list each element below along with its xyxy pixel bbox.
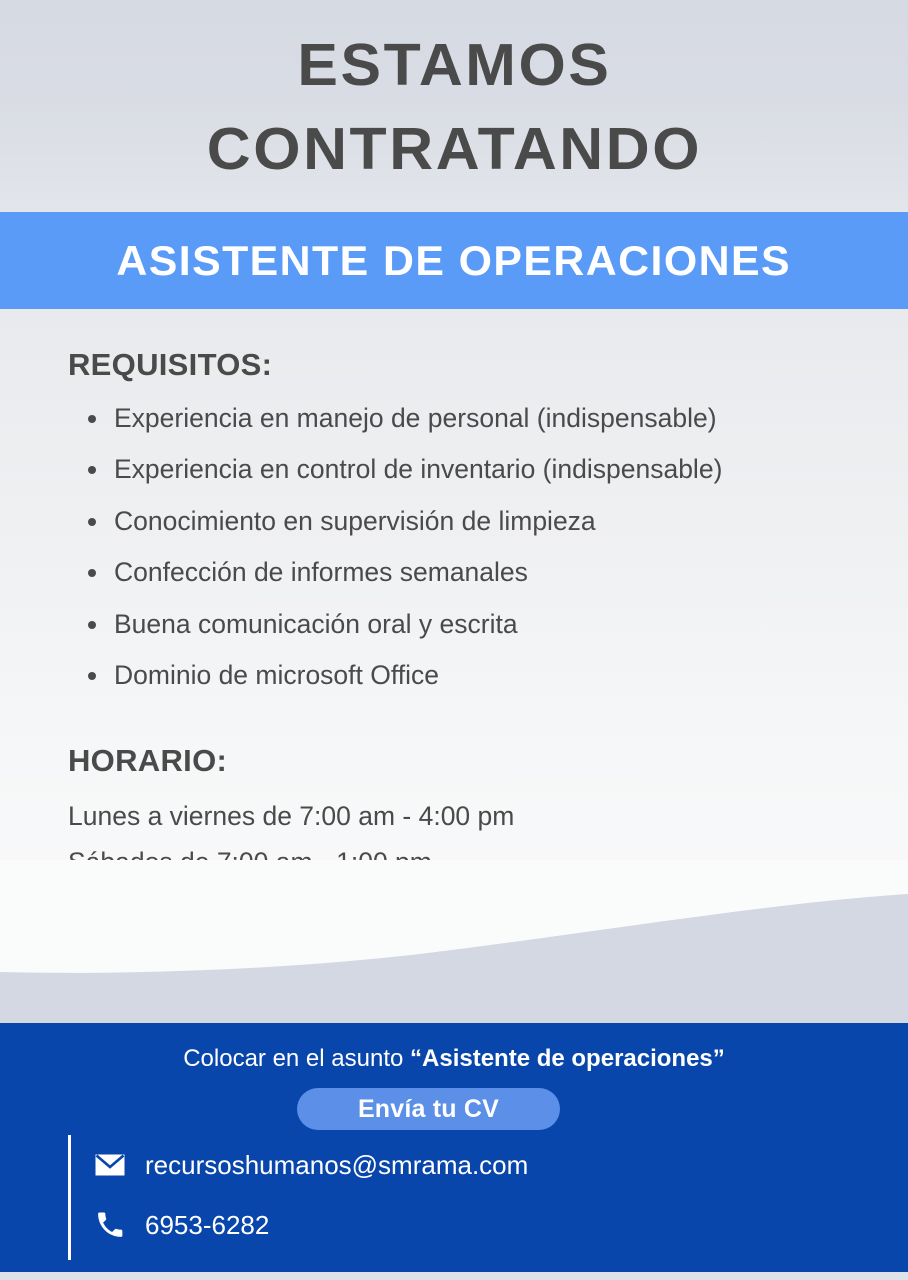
bullet-icon (88, 621, 96, 629)
phone-icon (93, 1211, 127, 1239)
subject-quoted-text: “Asistente de operaciones” (410, 1045, 725, 1072)
subject-instruction: Colocar en el asunto “Asistente de opera… (0, 1045, 908, 1073)
requirement-text: Experiencia en control de inventario (in… (114, 452, 722, 487)
requirement-text: Experiencia en manejo de personal (indis… (114, 401, 717, 436)
headline-line-2: CONTRATANDO (206, 108, 701, 192)
bullet-icon (88, 415, 96, 423)
phone-number[interactable]: 6953-6282 (145, 1210, 269, 1241)
requirement-text: Conocimiento en supervisión de limpieza (114, 504, 596, 539)
contact-row-phone[interactable]: 6953-6282 (93, 1195, 768, 1255)
requirements-list: Experiencia en manejo de personal (indis… (88, 401, 888, 710)
schedule-line-saturday: Sábados de 7:00 am - 1:00 pm (68, 840, 514, 886)
poster-body: REQUISITOS: Experiencia en manejo de per… (0, 309, 908, 1023)
requirement-item: Conocimiento en supervisión de limpieza (88, 504, 888, 539)
job-title-banner: ASISTENTE DE OPERACIONES (0, 212, 908, 309)
bullet-icon (88, 672, 96, 680)
bottom-strip (0, 1272, 908, 1280)
schedule-line-weekdays: Lunes a viernes de 7:00 am - 4:00 pm (68, 794, 514, 840)
schedule-heading: HORARIO: (68, 743, 227, 779)
bullet-icon (88, 569, 96, 577)
requirement-text: Dominio de microsoft Office (114, 658, 439, 693)
schedule-lines: Lunes a viernes de 7:00 am - 4:00 pm Sáb… (68, 794, 514, 885)
contact-row-email[interactable]: recursoshumanos@smrama.com (93, 1135, 768, 1195)
requirement-text: Confección de informes semanales (114, 555, 528, 590)
contact-block: recursoshumanos@smrama.com 6953-6282 (68, 1135, 768, 1260)
email-address[interactable]: recursoshumanos@smrama.com (145, 1150, 528, 1181)
envelope-icon (93, 1154, 127, 1176)
requirement-text: Buena comunicación oral y escrita (114, 607, 518, 642)
requirement-item: Dominio de microsoft Office (88, 658, 888, 693)
requirement-item: Buena comunicación oral y escrita (88, 607, 888, 642)
requirements-heading: REQUISITOS: (68, 347, 272, 383)
send-cv-button[interactable]: Envía tu CV (297, 1088, 560, 1130)
bullet-icon (88, 518, 96, 526)
requirement-item: Confección de informes semanales (88, 555, 888, 590)
poster-header: ESTAMOS CONTRATANDO (0, 0, 908, 212)
subject-prefix-text: Colocar en el asunto (183, 1045, 410, 1072)
requirement-item: Experiencia en manejo de personal (indis… (88, 401, 888, 436)
requirement-item: Experiencia en control de inventario (in… (88, 452, 888, 487)
bullet-icon (88, 466, 96, 474)
headline-line-1: ESTAMOS (297, 24, 611, 108)
job-title: ASISTENTE DE OPERACIONES (117, 237, 792, 285)
job-posting-poster: ESTAMOS CONTRATANDO ASISTENTE DE OPERACI… (0, 0, 908, 1280)
